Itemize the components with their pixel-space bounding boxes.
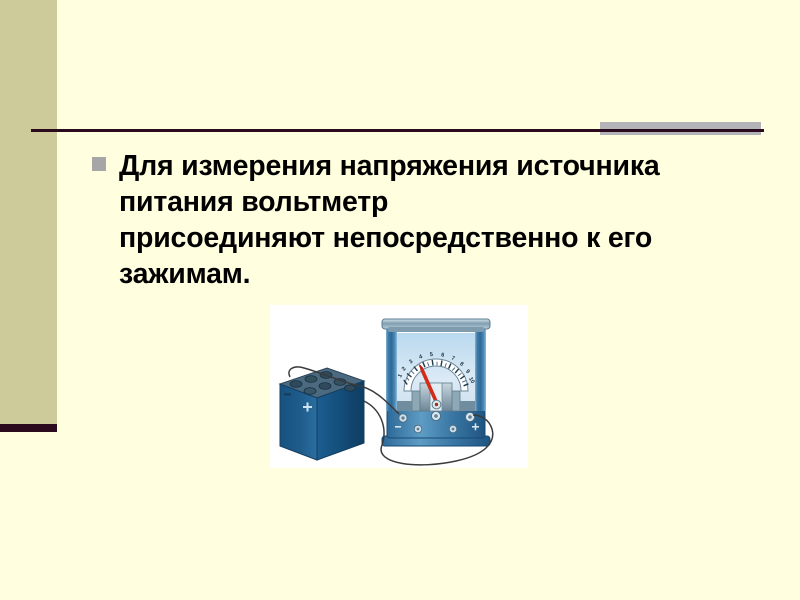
voltmeter-right-shoe: [460, 401, 475, 411]
circuit-illustration-image: 1 2 3 4 5 6 7 8 9 10: [270, 305, 528, 468]
left-accent-band-rule: [0, 424, 57, 432]
content-placeholder: Для измерения напряжения источника питан…: [92, 148, 752, 292]
header-divider-rule: [31, 129, 764, 132]
bullet-line-1: Для измерения напряжения источника: [119, 148, 752, 184]
bullet-line-2: питания вольтметр: [119, 184, 752, 220]
voltmeter-minus-label: [395, 426, 401, 428]
circuit-illustration-svg: 1 2 3 4 5 6 7 8 9 10: [270, 305, 528, 468]
voltmeter-figure: 1 2 3 4 5 6 7 8 9 10: [382, 319, 490, 446]
slide-canvas: Для измерения напряжения источника питан…: [0, 0, 800, 600]
voltmeter-left-shoe: [397, 401, 412, 411]
battery-figure: [280, 368, 364, 460]
battery-minus-terminal-label: [284, 393, 291, 396]
bullet-line-4: зажимам.: [119, 256, 752, 292]
left-accent-band: [0, 0, 57, 424]
square-bullet-icon: [92, 157, 106, 171]
bullet-item-text: Для измерения напряжения источника питан…: [119, 148, 752, 292]
voltmeter-right-pillar: [475, 327, 486, 411]
voltmeter-top-cap-lip: [388, 327, 484, 332]
bullet-line-3: присоединяют непосредственно к его: [119, 220, 752, 256]
voltmeter-needle-pivot-center: [435, 403, 438, 406]
voltmeter-left-pillar: [386, 327, 397, 411]
bullet-item: Для измерения напряжения источника питан…: [92, 148, 752, 292]
